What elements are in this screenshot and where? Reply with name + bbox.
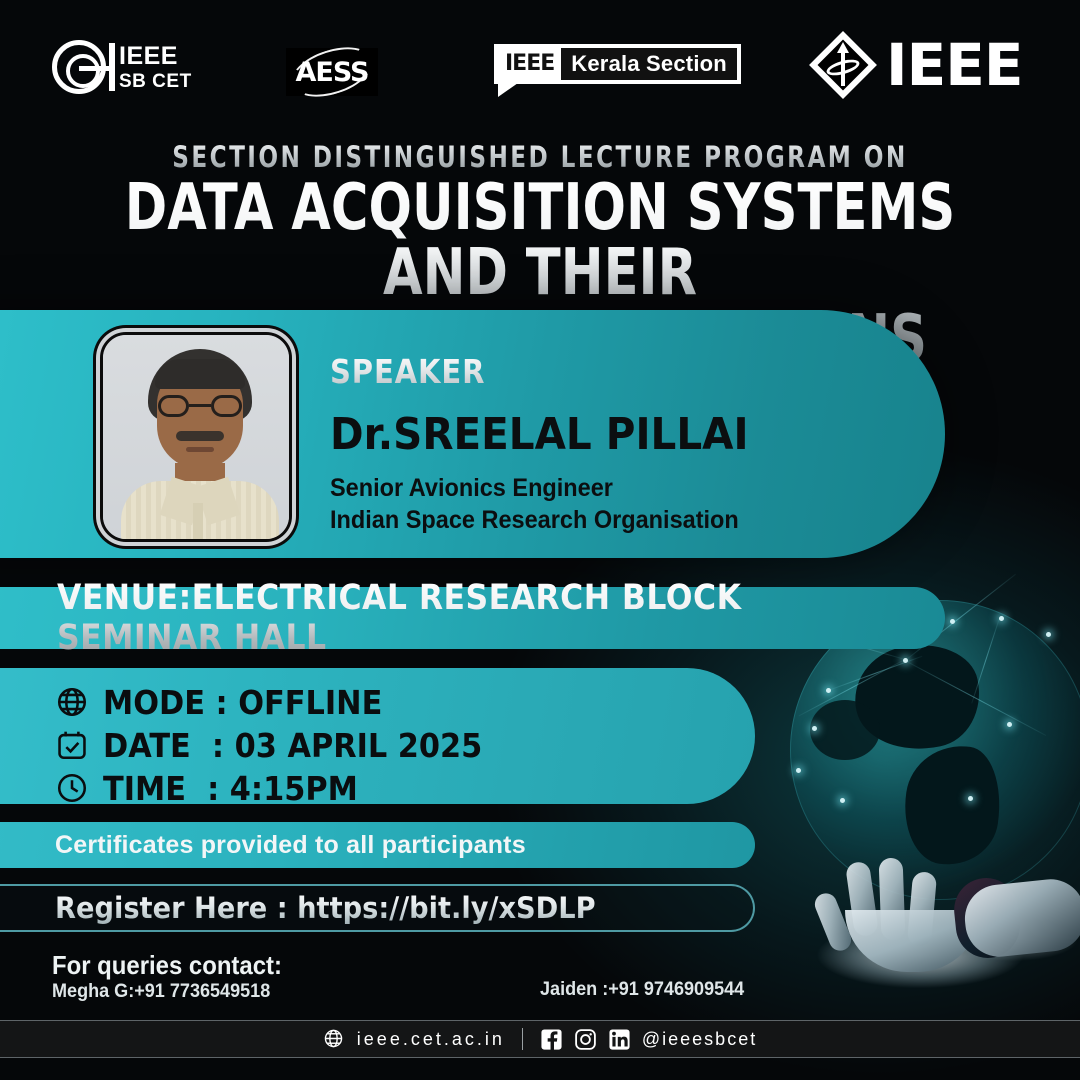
robot-finger bbox=[907, 871, 937, 947]
facebook-icon[interactable] bbox=[540, 1028, 563, 1051]
network-node bbox=[950, 619, 955, 624]
certificates-text: Certificates provided to all participant… bbox=[55, 831, 526, 860]
speaker-info: SPEAKER Dr.SREELAL PILLAI Senior Avionic… bbox=[330, 352, 890, 536]
speech-tail-icon bbox=[498, 83, 518, 97]
instagram-icon[interactable] bbox=[574, 1028, 597, 1051]
sbcet-logo-line2: SB CET bbox=[119, 72, 192, 91]
ieee-sb-cet-logo: IEEE SB CET bbox=[52, 40, 192, 94]
network-node bbox=[903, 658, 908, 663]
network-line bbox=[828, 656, 922, 691]
program-kicker: SECTION DISTINGUISHED LECTURE PROGRAM ON bbox=[108, 140, 972, 174]
detail-row-time: TIME : 4:15PM bbox=[55, 768, 755, 808]
continent-shape bbox=[845, 633, 989, 762]
network-line bbox=[799, 659, 905, 716]
event-details-block: MODE : OFFLINE DATE : 03 APRIL 2025 TIME… bbox=[0, 668, 755, 804]
calendar-check-icon bbox=[55, 728, 89, 762]
detail-row-mode: MODE : OFFLINE bbox=[55, 682, 755, 722]
network-node bbox=[796, 768, 801, 773]
sbcet-logo-line1: IEEE bbox=[119, 44, 192, 69]
robot-wrist-joint bbox=[951, 875, 1023, 961]
footer-divider bbox=[522, 1028, 523, 1050]
network-node bbox=[999, 616, 1004, 621]
robot-hand-graphic bbox=[800, 845, 1080, 1035]
ieee-master-logo: IEEE bbox=[812, 34, 1022, 96]
robot-palm bbox=[845, 910, 980, 972]
detail-date-label: DATE : 03 APRIL 2025 bbox=[103, 726, 482, 765]
clock-icon bbox=[55, 771, 89, 805]
cet-emblem-icon bbox=[52, 40, 106, 94]
network-node bbox=[840, 798, 845, 803]
venue-text: VENUE:ELECTRICAL RESEARCH BLOCK SEMINAR … bbox=[57, 578, 856, 658]
speaker-organisation: Indian Space Research Organisation bbox=[330, 504, 856, 536]
ieee-kerala-section-logo: IEEE Kerala Section bbox=[494, 44, 741, 84]
contact-right: Jaiden :+91 9746909544 bbox=[540, 979, 744, 1001]
avatar bbox=[103, 335, 289, 539]
register-bar[interactable]: Register Here : https://bit.ly/xSDLP bbox=[0, 884, 755, 932]
detail-row-date: DATE : 03 APRIL 2025 bbox=[55, 725, 755, 765]
network-node bbox=[1007, 722, 1012, 727]
contact-left: Megha G:+91 7736549518 bbox=[52, 981, 270, 1003]
network-line bbox=[971, 618, 1000, 704]
ieee-diamond-icon bbox=[812, 34, 874, 96]
robot-finger bbox=[845, 861, 879, 938]
venue-bar: VENUE:ELECTRICAL RESEARCH BLOCK SEMINAR … bbox=[0, 587, 945, 649]
continent-shape bbox=[897, 739, 1008, 871]
logo-strip: IEEE SB CET AESS IEEE Kerala Section IEE… bbox=[0, 34, 1080, 112]
title-line-1: DATA ACQUISITION SYSTEMS AND THEIR bbox=[108, 176, 972, 307]
continent-shape bbox=[810, 700, 880, 760]
network-line bbox=[905, 660, 1047, 736]
certificates-bar: Certificates provided to all participant… bbox=[0, 822, 755, 868]
kerala-logo-ieee: IEEE bbox=[498, 48, 561, 80]
event-poster: IEEE SB CET AESS IEEE Kerala Section IEE… bbox=[0, 0, 1080, 1080]
robot-finger bbox=[879, 858, 906, 941]
speaker-name: Dr.SREELAL PILLAI bbox=[330, 409, 845, 460]
robot-wrist bbox=[962, 876, 1080, 960]
globe-icon bbox=[323, 1028, 346, 1051]
detail-time-label: TIME : 4:15PM bbox=[103, 769, 358, 808]
globe-icon bbox=[55, 685, 89, 719]
aess-logo: AESS bbox=[286, 48, 378, 96]
speaker-label: SPEAKER bbox=[330, 352, 823, 391]
footer-handle[interactable]: @ieeesbcet bbox=[642, 1029, 757, 1050]
speaker-role: Senior Avionics Engineer bbox=[330, 472, 856, 504]
register-link-text[interactable]: Register Here : https://bit.ly/xSDLP bbox=[55, 891, 596, 925]
speaker-photo-frame bbox=[100, 332, 292, 542]
kerala-logo-section: Kerala Section bbox=[561, 48, 737, 80]
linkedin-icon[interactable] bbox=[608, 1028, 631, 1051]
network-node bbox=[826, 688, 831, 693]
network-node bbox=[968, 796, 973, 801]
detail-mode-label: MODE : OFFLINE bbox=[103, 683, 382, 722]
footer-bar: ieee.cet.ac.in @ieeesbcet bbox=[0, 1020, 1080, 1058]
ieee-logo-text: IEEE bbox=[886, 36, 1022, 94]
footer-website[interactable]: ieee.cet.ac.in bbox=[357, 1029, 505, 1050]
queries-heading: For queries contact: bbox=[52, 950, 282, 981]
robot-finger bbox=[812, 890, 855, 954]
network-node bbox=[1046, 632, 1051, 637]
orbit-swoosh-icon bbox=[285, 38, 378, 106]
network-node bbox=[812, 726, 817, 731]
